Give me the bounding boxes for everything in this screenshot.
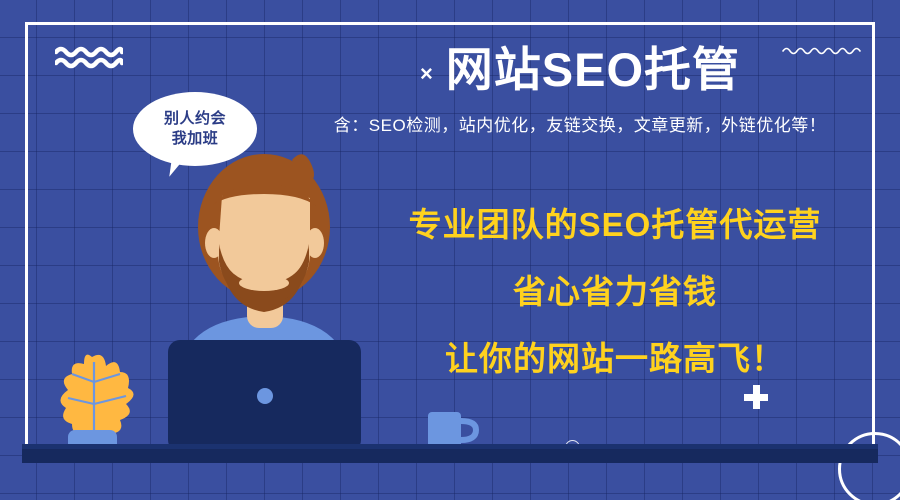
desk-surface bbox=[22, 449, 878, 463]
illustration-person-at-desk bbox=[0, 0, 900, 500]
laptop-logo-dot bbox=[257, 388, 273, 404]
mouth-shape bbox=[239, 275, 289, 291]
seo-promo-banner: × 网站SEO托管 含：SEO检测，站内优化，友链交换，文章更新，外链优化等！ … bbox=[0, 0, 900, 500]
plant-illustration bbox=[60, 355, 133, 452]
